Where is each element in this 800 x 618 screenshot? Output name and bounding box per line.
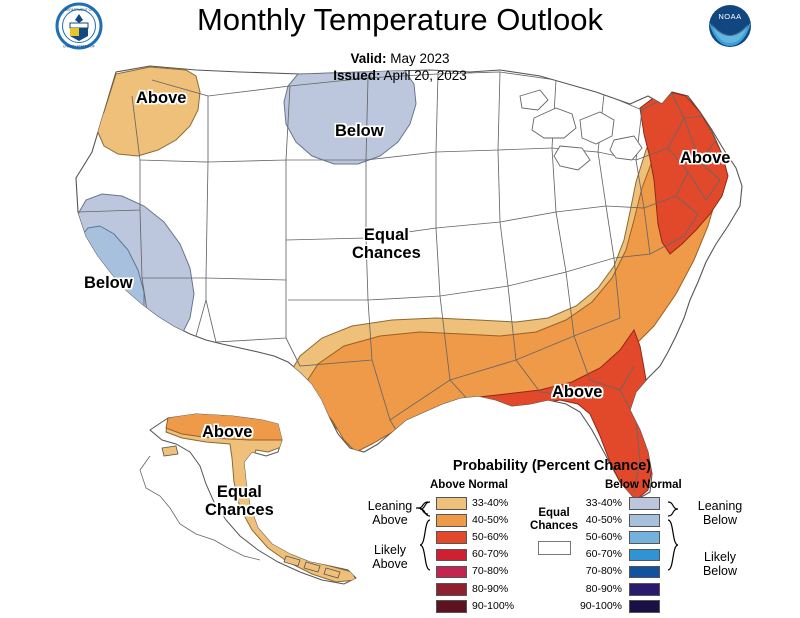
outlook-map-page: Above Below Below Equal Chances Above Ab… xyxy=(0,0,800,618)
legend-label-above-70-80: 70-80% xyxy=(472,565,508,577)
legend-swatch-below-80-90 xyxy=(629,583,660,596)
legend-equal-chances-label: Equal Chances xyxy=(522,507,586,533)
legend-swatch-above-90-100 xyxy=(436,600,467,613)
valid-line: Valid: May 2023 xyxy=(0,51,800,66)
svg-text:UNITED STATES OF: UNITED STATES OF xyxy=(63,45,95,49)
legend-label-above-90-100: 90-100% xyxy=(472,600,514,612)
legend-below-normal-header: Below Normal xyxy=(605,479,682,491)
legend-ec-line1: Equal xyxy=(538,507,569,519)
legend-swatch-below-33-40 xyxy=(629,497,660,510)
legend-above-normal-header: Above Normal xyxy=(430,479,508,491)
valid-key: Valid: xyxy=(350,51,386,66)
legend-swatch-below-60-70 xyxy=(629,549,660,562)
legend-swatch-below-90-100 xyxy=(629,600,660,613)
legend-swatch-below-70-80 xyxy=(629,566,660,579)
legend-label-above-60-70: 60-70% xyxy=(472,548,508,560)
legend-swatch-below-50-60 xyxy=(629,531,660,544)
legend-label-above-50-60: 50-60% xyxy=(472,531,508,543)
legend-leaning-above-label: Leaning Above xyxy=(358,499,422,527)
legend-swatch-above-40-50 xyxy=(436,514,467,527)
issued-key: Issued: xyxy=(333,68,380,83)
likely-above-line1: Likely xyxy=(374,543,406,557)
legend-label-below-90-100: 90-100% xyxy=(568,600,622,612)
alaska-map xyxy=(140,412,356,584)
legend-swatch-above-80-90 xyxy=(436,583,467,596)
legend-title: Probability (Percent Chance) xyxy=(352,458,752,474)
legend-ec-line2: Chances xyxy=(530,520,578,532)
legend-label-below-80-90: 80-90% xyxy=(568,583,622,595)
issued-line: Issued: April 20, 2023 xyxy=(0,68,800,83)
leaning-below-line1: Leaning xyxy=(698,499,743,513)
legend-label-above-40-50: 40-50% xyxy=(472,514,508,526)
legend-swatch-above-33-40 xyxy=(436,497,467,510)
legend: Probability (Percent Chance) Above Norma… xyxy=(352,458,752,616)
legend-likely-above-label: Likely Above xyxy=(358,543,422,571)
legend-label-above-80-90: 80-90% xyxy=(472,583,508,595)
legend-leaning-below-label: Leaning Below xyxy=(689,499,751,527)
legend-likely-below-label: Likely Below xyxy=(689,550,751,578)
issued-value: April 20, 2023 xyxy=(383,68,466,83)
legend-swatch-above-70-80 xyxy=(436,566,467,579)
likely-below-line1: Likely xyxy=(704,550,736,564)
legend-equal-chances: Equal Chances xyxy=(522,507,586,555)
legend-swatch-above-50-60 xyxy=(436,531,467,544)
legend-label-above-33-40: 33-40% xyxy=(472,497,508,509)
leaning-below-line2: Below xyxy=(703,513,737,527)
legend-equal-chances-swatch xyxy=(538,541,571,555)
valid-value: May 2023 xyxy=(390,51,449,66)
legend-label-below-70-80: 70-80% xyxy=(568,565,622,577)
legend-swatch-below-40-50 xyxy=(629,514,660,527)
page-title: Monthly Temperature Outlook xyxy=(0,2,800,38)
likely-above-line2: Above xyxy=(372,557,407,571)
legend-swatch-above-60-70 xyxy=(436,549,467,562)
leaning-above-line1: Leaning xyxy=(368,499,413,513)
likely-below-line2: Below xyxy=(703,564,737,578)
leaning-above-line2: Above xyxy=(372,513,407,527)
